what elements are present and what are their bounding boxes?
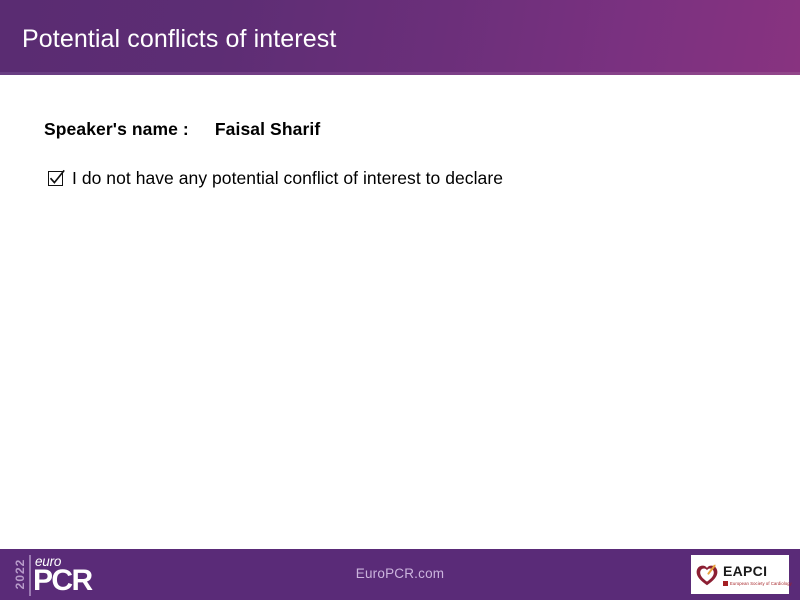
checked-checkbox-icon[interactable]: [48, 171, 63, 186]
speaker-name-value: Faisal Sharif: [215, 119, 320, 140]
speaker-name-label: Speaker's name :: [44, 119, 189, 140]
eapci-logo-name: EAPCI: [723, 564, 792, 579]
eapci-logo: EAPCI European Society of Cardiology: [691, 555, 789, 594]
eapci-logo-text-group: EAPCI European Society of Cardiology: [723, 564, 792, 586]
eapci-heart-icon: [695, 563, 719, 587]
eapci-logo-subtitle-row: European Society of Cardiology: [723, 581, 792, 586]
conflict-declaration-text: I do not have any potential conflict of …: [72, 168, 503, 189]
slide-content: Speaker's name : Faisal Sharif I do not …: [0, 75, 800, 549]
page-title: Potential conflicts of interest: [22, 24, 336, 54]
conflict-declaration-row[interactable]: I do not have any potential conflict of …: [48, 168, 503, 189]
eapci-logo-subtitle: European Society of Cardiology: [730, 581, 792, 586]
footer-website-link[interactable]: EuroPCR.com: [0, 566, 800, 581]
eapci-square-bullet-icon: [723, 581, 728, 586]
presentation-slide: Potential conflicts of interest Speaker'…: [0, 0, 800, 600]
slide-header: Potential conflicts of interest: [0, 0, 800, 75]
speaker-row: Speaker's name : Faisal Sharif: [44, 119, 320, 140]
slide-footer: 2022 euro PCR EuroPCR.com EAPCI European…: [0, 549, 800, 600]
